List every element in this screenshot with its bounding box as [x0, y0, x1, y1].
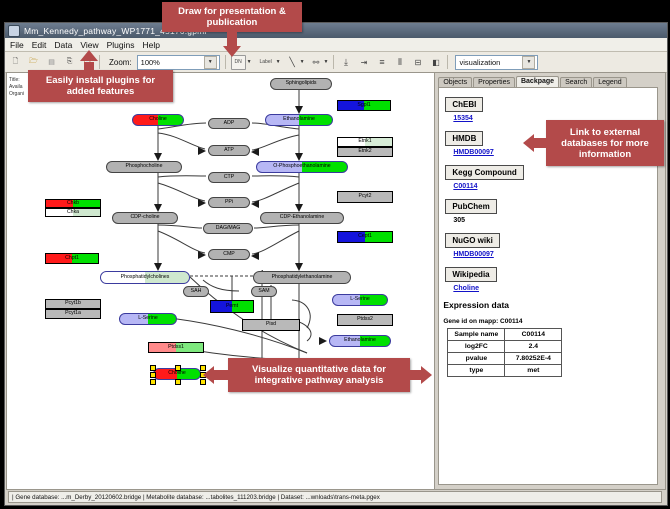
line-tool[interactable]: ╲▼	[286, 56, 305, 69]
visualization-combo[interactable]: visualization ▼	[455, 55, 538, 70]
metabolite-label-ppi: PPi	[225, 200, 233, 205]
metabolite-label-phosphatidylcholines: Phosphatidylcholines	[121, 275, 170, 280]
expression-table: Sample nameC00114log2FC2.4pvalue7.80252E…	[447, 328, 562, 377]
selection-handle-6[interactable]	[175, 379, 181, 385]
canvas-availability-label: Availa	[9, 84, 24, 91]
callout-links-arrow	[523, 134, 534, 152]
metabolite-node-atp[interactable]: ATP	[208, 145, 250, 156]
metabolite-node-ethanolamine-top[interactable]: Ethanolamine	[265, 114, 333, 126]
tab-backpage[interactable]: Backpage	[516, 76, 559, 87]
expression-value: 2.4	[505, 341, 562, 353]
align-cols-icon[interactable]: ⦀	[393, 56, 406, 69]
callout-links-stem	[534, 138, 548, 148]
callout-visualize-stem	[214, 370, 230, 380]
selection-handle-0[interactable]	[150, 365, 156, 371]
metabolite-node-sam[interactable]: SAM	[251, 286, 277, 297]
size-icon[interactable]: ⊟	[411, 56, 424, 69]
backpage-header-chebi: ChEBI	[445, 97, 483, 112]
menu-item-view[interactable]: View	[80, 40, 98, 50]
gene-label-chka: Chka	[67, 210, 79, 215]
gene-id-line: Gene id on mapp: C00114	[443, 318, 657, 325]
new-file-icon[interactable]: 🗋	[9, 56, 22, 69]
metabolite-label-cdp-ethanolamine: CDP-Ethanolamine	[280, 215, 324, 220]
metabolite-node-ethanolamine-right[interactable]: Ethanolamine	[329, 335, 391, 347]
metabolite-label-phosphatidylethanolamine: Phosphatidylethanolamine	[272, 275, 333, 280]
metabolite-node-phosphatidylethanolamine[interactable]: Phosphatidylethanolamine	[253, 271, 351, 284]
metabolite-node-choline[interactable]: Choline	[132, 114, 184, 126]
tab-objects[interactable]: Objects	[438, 77, 472, 87]
toolbar-separator-1	[99, 55, 100, 69]
metabolite-label-ctp: CTP	[224, 175, 234, 180]
expression-key: Sample name	[448, 329, 505, 341]
expression-value: met	[505, 365, 562, 377]
metabolite-label-sam: SAM	[258, 289, 269, 294]
backpage-section-kegg-compound: Kegg CompoundC00114	[445, 162, 657, 190]
callout-plugins-stem	[84, 62, 94, 74]
gene-node-etnk1[interactable]: Etnk1	[337, 137, 393, 147]
menu-item-file[interactable]: File	[10, 40, 24, 50]
metabolite-node-sah[interactable]: SAH	[183, 286, 209, 297]
callout-visualize-stem-2	[408, 370, 422, 380]
menu-item-help[interactable]: Help	[143, 40, 160, 50]
gene-label-pisd: Pisd	[266, 322, 276, 327]
receptor-tool[interactable]: ⚯▼	[310, 56, 329, 69]
canvas-title-label: Title:	[9, 77, 24, 84]
gene-node-chpt1[interactable]: Chpt1	[45, 253, 99, 264]
callout-links: Link to external databases for more info…	[546, 120, 664, 166]
metabolite-label-adp: ADP	[224, 121, 235, 126]
gene-label-etnk2: Etnk2	[358, 149, 371, 154]
gene-node-cept1[interactable]: Cept1	[337, 231, 393, 243]
callout-draw-arrow	[223, 46, 241, 57]
visualization-value: visualization	[459, 58, 500, 67]
metabolite-label-choline: Choline	[149, 117, 167, 122]
callout-plugins: Easily install plugins for added feature…	[28, 70, 173, 102]
toolbar-separator-3	[333, 55, 334, 69]
gene-node-sgpl1[interactable]: Sgpl1	[337, 100, 391, 111]
gene-node-pcyt1b[interactable]: Pcyt1b	[45, 299, 101, 309]
metabolite-label-o-phosphoethanolamine: O-Phosphoethanolamine	[273, 164, 330, 169]
expression-data-heading: Expression data	[443, 300, 657, 310]
metabolite-node-phosphocholine[interactable]: Phosphocholine	[106, 161, 182, 173]
gene-node-ptdss1[interactable]: Ptdss1	[148, 342, 204, 353]
chevron-down-icon-2[interactable]: ▼	[522, 56, 535, 69]
toolbar-separator-2	[225, 55, 226, 69]
metabolite-node-dag-mag[interactable]: DAG/MAG	[203, 223, 253, 234]
metabolite-label-sah: SAH	[191, 289, 202, 294]
metabolite-label-ethanolamine-right: Ethanolamine	[344, 338, 376, 343]
open-folder-icon[interactable]: 🗁	[27, 56, 40, 69]
callout-draw-text: Draw for presentation & publication	[162, 4, 302, 30]
backpage-value-pubchem: 305	[453, 217, 657, 224]
status-bar: | Gene database: ...m_Derby_20120602.bri…	[8, 491, 662, 503]
title-bar: Mm_Kennedy_pathway_WP1771_45176.gpml	[5, 23, 667, 38]
gene-node-pcyt2[interactable]: Pcyt2	[337, 191, 393, 203]
metabolite-label-l-serine-left: L-Serine	[138, 316, 158, 321]
panel-tab-row: ObjectsPropertiesBackpageSearchLegend	[435, 73, 665, 87]
expression-value: C00114	[505, 329, 562, 341]
backpage-section-wikipedia: WikipediaCholine	[445, 264, 657, 292]
metabolite-label-phosphocholine: Phosphocholine	[126, 164, 163, 169]
backpage-value-kegg-compound[interactable]: C00114	[453, 183, 657, 190]
expression-value: 7.80252E-4	[505, 353, 562, 365]
callout-visualize-arrow-2	[421, 366, 432, 384]
zoom-combo[interactable]: 100% ▼	[137, 55, 220, 70]
expression-row: pvalue7.80252E-4	[448, 353, 562, 365]
expression-key: log2FC	[448, 341, 505, 353]
gene-label-chkb: Chkb	[67, 201, 79, 206]
menu-item-data[interactable]: Data	[54, 40, 72, 50]
toolbar-separator-4	[447, 55, 448, 69]
gene-label-chpt1: Chpt1	[65, 256, 79, 261]
menu-item-edit[interactable]: Edit	[32, 40, 47, 50]
callout-visualize: Visualize quantitative data for integrat…	[228, 358, 410, 392]
zoom-value: 100%	[141, 58, 160, 67]
backpage-header-pubchem: PubChem	[445, 199, 496, 214]
pathway-canvas[interactable]: Title: Availa Organi	[6, 72, 435, 490]
menu-item-plugins[interactable]: Plugins	[107, 40, 135, 50]
gene-node-chkb[interactable]: Chkb	[45, 199, 101, 208]
callout-visualize-text: Visualize quantitative data for integrat…	[228, 362, 410, 388]
callout-visualize-arrow	[203, 366, 214, 384]
metabolite-node-l-serine-right[interactable]: L-Serine	[332, 294, 388, 306]
gene-node-chka[interactable]: Chka	[45, 208, 101, 217]
tab-legend[interactable]: Legend	[593, 77, 626, 87]
gene-node-pcyt1a[interactable]: Pcyt1a	[45, 309, 101, 319]
metabolite-node-ctp[interactable]: CTP	[208, 172, 250, 183]
expression-row: typemet	[448, 365, 562, 377]
expression-key: type	[448, 365, 505, 377]
expression-row: Sample nameC00114	[448, 329, 562, 341]
backpage-header-hmdb: HMDB	[445, 131, 483, 146]
gene-node-pisd[interactable]: Pisd	[242, 319, 300, 331]
gene-label-pemt: Pemt	[226, 304, 238, 309]
backpage-header-kegg-compound: Kegg Compound	[445, 165, 523, 180]
metabolite-node-cmp[interactable]: CMP	[208, 249, 250, 260]
backpage-value-wikipedia[interactable]: Choline	[453, 285, 657, 292]
gene-node-pemt[interactable]: Pemt	[210, 300, 254, 313]
gene-node-etnk2[interactable]: Etnk2	[337, 147, 393, 157]
metabolite-node-o-phosphoethanolamine[interactable]: O-Phosphoethanolamine	[256, 161, 348, 173]
expression-key: pvalue	[448, 353, 505, 365]
callout-plugins-arrow	[80, 50, 98, 61]
expression-row: log2FC2.4	[448, 341, 562, 353]
zoom-label: Zoom:	[109, 58, 132, 67]
canvas-side-info: Title: Availa Organi	[9, 77, 24, 98]
gene-node-ptdss2[interactable]: Ptdss2	[337, 314, 393, 326]
metabolite-node-cdp-ethanolamine[interactable]: CDP-Ethanolamine	[260, 212, 344, 224]
callout-draw-stem	[227, 32, 237, 47]
gene-label-ptdss1: Ptdss1	[168, 345, 184, 350]
gene-label-etnk1: Etnk1	[358, 139, 371, 144]
tab-search[interactable]: Search	[560, 77, 592, 87]
align-rows-icon[interactable]: ≡	[375, 56, 388, 69]
align-left-icon[interactable]: ⇥	[357, 56, 370, 69]
metabolite-label-l-serine-right: L-Serine	[350, 297, 370, 302]
backpage-header-wikipedia: Wikipedia	[445, 267, 496, 282]
gene-label-sgpl1: Sgpl1	[357, 103, 370, 108]
label-tool[interactable]: Label▼	[257, 56, 281, 69]
status-bar-text: | Gene database: ...m_Derby_20120602.bri…	[12, 494, 380, 501]
metabolite-label-cdp-choline: CDP-choline	[130, 215, 159, 220]
tab-properties[interactable]: Properties	[473, 77, 515, 87]
gene-label-ptdss2: Ptdss2	[357, 317, 373, 322]
backpage-section-nugo-wiki: NuGO wikiHMDB00097	[445, 230, 657, 258]
callout-draw: Draw for presentation & publication	[162, 2, 302, 32]
backpage-section-chebi: ChEBI15354	[445, 94, 657, 122]
backpage-header-nugo-wiki: NuGO wiki	[445, 233, 499, 248]
metabolite-node-sphingolipids[interactable]: Sphingolipids	[270, 78, 332, 90]
metabolite-node-adp[interactable]: ADP	[208, 118, 250, 129]
metabolite-label-dag-mag: DAG/MAG	[216, 226, 241, 231]
copy-icon[interactable]: ⎘	[63, 56, 76, 69]
metabolite-label-ethanolamine-top: Ethanolamine	[283, 117, 315, 122]
gene-label-pcyt2: Pcyt2	[359, 194, 372, 199]
backpage-section-pubchem: PubChem305	[445, 196, 657, 224]
order-icon[interactable]: ◧	[429, 56, 442, 69]
metabolite-node-ppi[interactable]: PPi	[208, 197, 250, 208]
metabolite-node-phosphatidylcholines[interactable]: Phosphatidylcholines	[100, 271, 190, 284]
pathway-connectors	[7, 73, 435, 489]
gene-label-cept1: Cept1	[358, 234, 372, 239]
backpage-value-nugo-wiki[interactable]: HMDB00097	[453, 251, 657, 258]
metabolite-label-atp: ATP	[224, 148, 234, 153]
status-bar-wrap: | Gene database: ...m_Derby_20120602.bri…	[6, 490, 664, 503]
selection-handle-5[interactable]	[150, 379, 156, 385]
callout-plugins-text: Easily install plugins for added feature…	[28, 73, 173, 99]
metabolite-label-choline-selected: Choline	[168, 371, 186, 376]
align-top-icon[interactable]: ⤓	[339, 56, 352, 69]
callout-links-text: Link to external databases for more info…	[546, 125, 664, 162]
metabolite-label-sphingolipids: Sphingolipids	[286, 81, 317, 86]
selection-handle-3[interactable]	[150, 372, 156, 378]
chevron-down-icon[interactable]: ▼	[204, 56, 217, 69]
metabolite-node-cdp-choline[interactable]: CDP-choline	[112, 212, 178, 224]
metabolite-node-l-serine-left[interactable]: L-Serine	[119, 313, 177, 325]
menu-bar: File Edit Data View Plugins Help	[5, 38, 667, 52]
gene-label-pcyt1a: Pcyt1a	[65, 311, 81, 316]
app-icon	[8, 25, 20, 37]
canvas-organism-label: Organi	[9, 91, 24, 98]
gene-label-pcyt1b: Pcyt1b	[65, 301, 81, 306]
metabolite-label-cmp: CMP	[223, 252, 235, 257]
save-icon[interactable]: ▤	[45, 56, 58, 69]
screenshot-root: Mm_Kennedy_pathway_WP1771_45176.gpml Fil…	[0, 0, 670, 509]
